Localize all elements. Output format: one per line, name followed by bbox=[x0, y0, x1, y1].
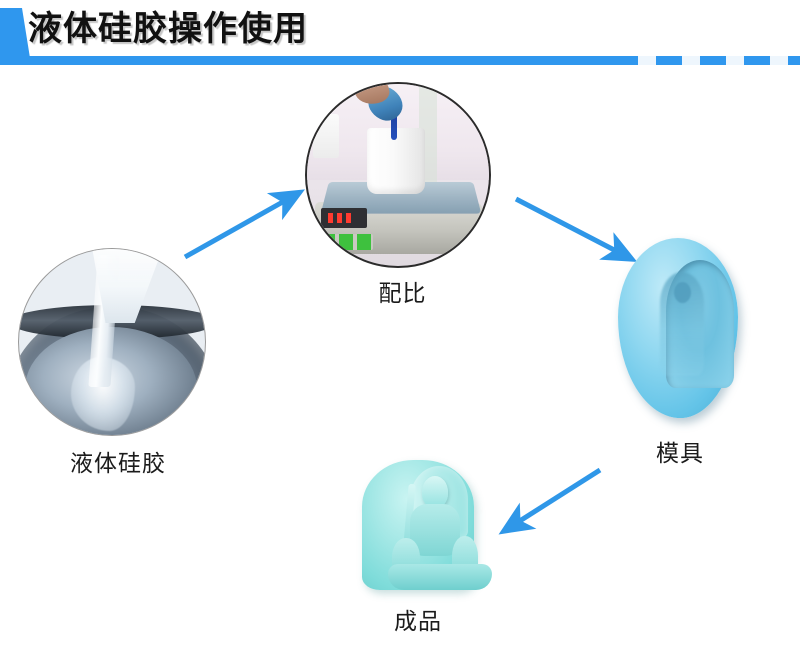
ratio-side-jar bbox=[313, 114, 339, 158]
flow-node-product: 成品 bbox=[340, 460, 510, 635]
flow-node-label-silicone: 液体硅胶 bbox=[70, 444, 166, 478]
flow-node-label-mold: 模具 bbox=[656, 434, 704, 468]
header-rule-solid bbox=[0, 56, 612, 65]
header-accent-shape bbox=[0, 8, 30, 58]
page-title: 液体硅胶操作使用 bbox=[28, 6, 308, 52]
photo-liquid-silicone bbox=[18, 248, 206, 436]
flow-node-label-ratio: 配比 bbox=[379, 274, 427, 308]
flow-node-mold: 模具 bbox=[600, 238, 785, 478]
figurine-base bbox=[388, 564, 492, 590]
flow-node-ratio: 配比 bbox=[305, 82, 500, 312]
header-rule-dashed bbox=[612, 56, 800, 65]
arrow-mold-to-product bbox=[515, 470, 600, 524]
photo-finished-figurine bbox=[362, 460, 474, 590]
flow-node-label-product: 成品 bbox=[394, 602, 442, 636]
mold-figure-head-impression bbox=[674, 282, 691, 303]
ratio-scale-display bbox=[321, 208, 367, 228]
page-header: 液体硅胶操作使用 bbox=[0, 0, 800, 72]
photo-proportioning bbox=[305, 82, 491, 268]
diagram-page: 液体硅胶操作使用 液体硅胶 bbox=[0, 0, 800, 646]
flow-node-silicone: 液体硅胶 bbox=[18, 248, 218, 488]
ratio-scale-keypad bbox=[321, 234, 373, 250]
